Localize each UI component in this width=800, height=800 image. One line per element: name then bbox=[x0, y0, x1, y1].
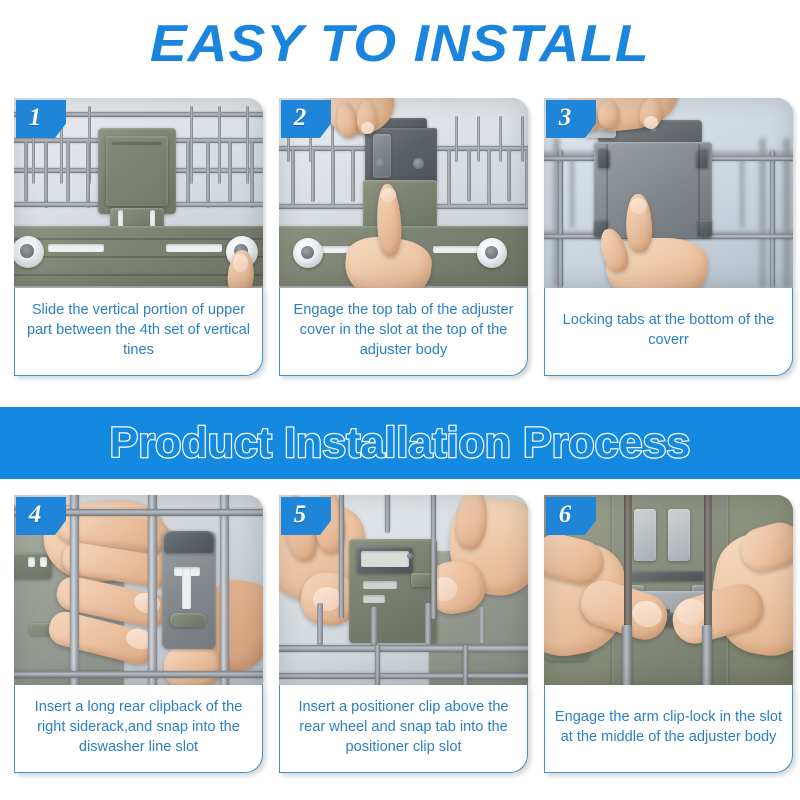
step-caption-2: Engage the top tab of the adjuster cover… bbox=[288, 300, 519, 360]
step-number-badge-3: 3 bbox=[546, 100, 596, 138]
step-caption-card-4: Insert a long rear clipback of the right… bbox=[14, 685, 263, 773]
step-number-badge-4: 4 bbox=[16, 497, 66, 535]
step-number-1: 1 bbox=[29, 104, 42, 132]
step-number-badge-1: 1 bbox=[16, 100, 66, 138]
step-card-2[interactable]: 2 Engage the top tab of the adjuster cov… bbox=[279, 98, 528, 381]
step-number-4: 4 bbox=[29, 501, 42, 529]
step-number-5: 5 bbox=[294, 501, 307, 529]
step-caption-4: Insert a long rear clipback of the right… bbox=[23, 697, 254, 757]
process-banner: Product Installation Process bbox=[0, 407, 800, 479]
step-caption-1: Slide the vertical portion of upper part… bbox=[23, 300, 254, 360]
step-caption-card-3: Locking tabs at the bottom of the coverr bbox=[544, 288, 793, 376]
step-caption-card-2: Engage the top tab of the adjuster cover… bbox=[279, 288, 528, 376]
page-title: EASY TO INSTALL bbox=[150, 14, 650, 74]
step-caption-card-6: Engage the arm clip-lock in the slot at … bbox=[544, 685, 793, 773]
step-card-4[interactable]: 4 Insert a long rear clipback of the rig… bbox=[14, 495, 263, 778]
step-caption-6: Engage the arm clip-lock in the slot at … bbox=[553, 707, 784, 747]
step-number-badge-2: 2 bbox=[281, 100, 331, 138]
steps-row-top: 1 Slide the vertical portion of upper pa… bbox=[0, 98, 800, 381]
step-number-badge-5: 5 bbox=[281, 497, 331, 535]
step-card-1[interactable]: 1 Slide the vertical portion of upper pa… bbox=[14, 98, 263, 381]
step-caption-5: Insert a positioner clip above the rear … bbox=[288, 697, 519, 757]
step-card-5[interactable]: 5 Insert a positioner clip above the rea… bbox=[279, 495, 528, 778]
step-number-6: 6 bbox=[559, 501, 572, 529]
step-caption-card-1: Slide the vertical portion of upper part… bbox=[14, 288, 263, 376]
step-caption-card-5: Insert a positioner clip above the rear … bbox=[279, 685, 528, 773]
step-number-2: 2 bbox=[294, 104, 307, 132]
process-banner-title: Product Installation Process bbox=[110, 419, 691, 468]
step-card-3[interactable]: 3 Locking tabs at the bottom of the cove… bbox=[544, 98, 793, 381]
step-card-6[interactable]: 6 Engage the arm clip-lock in the slot a… bbox=[544, 495, 793, 778]
step-number-badge-6: 6 bbox=[546, 497, 596, 535]
headline-banner: EASY TO INSTALL bbox=[0, 0, 800, 88]
steps-row-bottom: 4 Insert a long rear clipback of the rig… bbox=[0, 495, 800, 778]
step-caption-3: Locking tabs at the bottom of the coverr bbox=[553, 310, 784, 350]
step-number-3: 3 bbox=[559, 104, 572, 132]
